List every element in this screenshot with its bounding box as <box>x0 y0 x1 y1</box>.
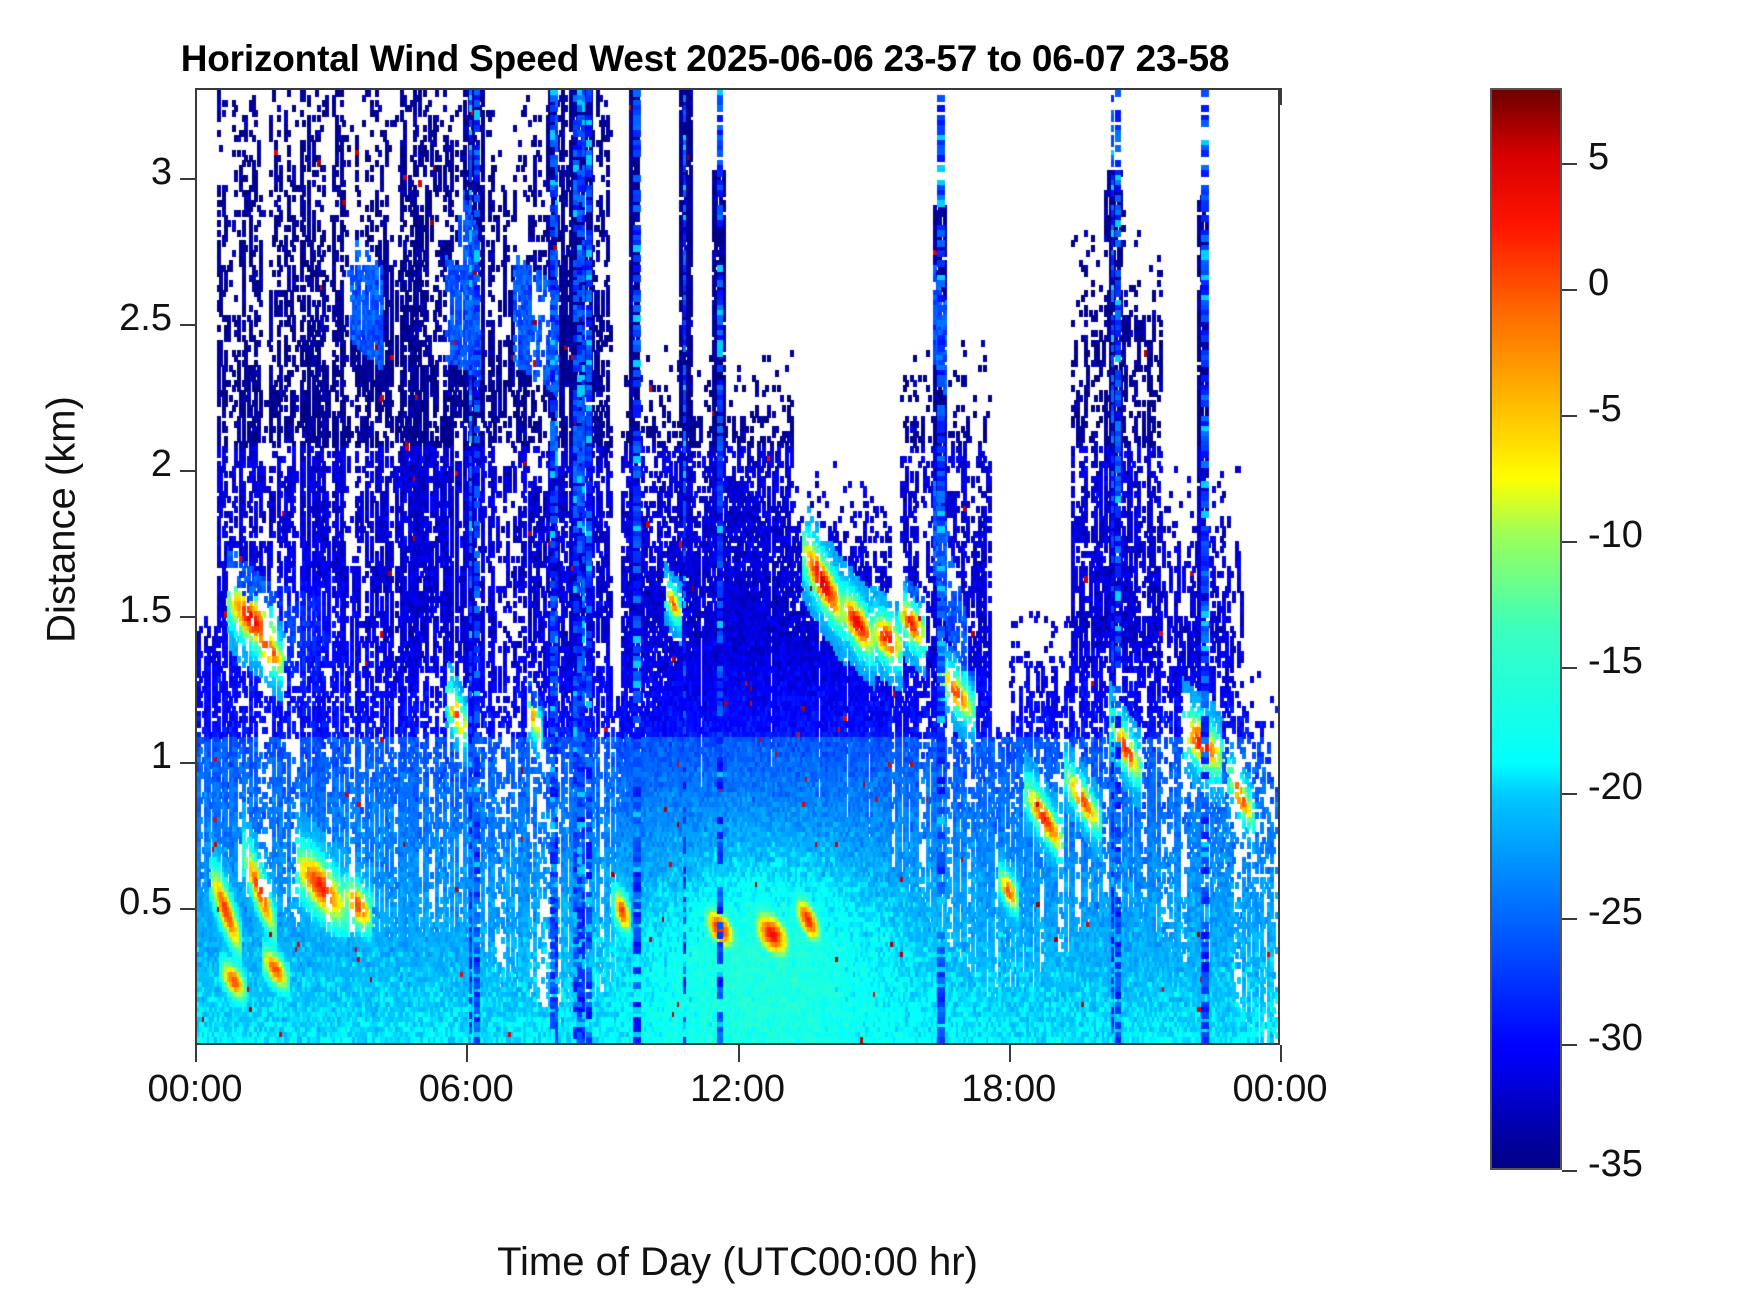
colorbar-tick-label-3: -10 <box>1588 514 1643 557</box>
colorbar-tick-label-5: -20 <box>1588 766 1643 809</box>
colorbar-tick-8 <box>1562 1170 1577 1172</box>
x-tick-1 <box>466 1045 468 1062</box>
colorbar-tick-6 <box>1562 918 1577 920</box>
y-tick-label-1.5: 1.5 <box>119 589 172 632</box>
colorbar[interactable] <box>1490 88 1562 1170</box>
y-tick-label-0.5: 0.5 <box>119 881 172 924</box>
y-tick-label-2.5: 2.5 <box>119 297 172 340</box>
colorbar-tick-label-7: -30 <box>1588 1017 1643 1060</box>
heatmap-image <box>197 90 1278 1043</box>
x-tick-label-2: 12:00 <box>690 1068 785 1111</box>
colorbar-tick-label-8: -35 <box>1588 1143 1643 1186</box>
y-tick-label-1: 1 <box>151 735 172 778</box>
colorbar-gradient <box>1492 90 1560 1168</box>
x-tick-0 <box>195 1045 197 1062</box>
colorbar-tick-2 <box>1562 415 1577 417</box>
colorbar-tick-label-2: -5 <box>1588 388 1622 431</box>
plot-area[interactable] <box>195 88 1280 1045</box>
colorbar-tick-label-6: -25 <box>1588 891 1643 934</box>
x-tick-2 <box>738 1045 740 1062</box>
x-tick-label-0: 00:00 <box>147 1068 242 1111</box>
x-tick-4 <box>1280 1045 1282 1062</box>
x-tick-label-1: 06:00 <box>419 1068 514 1111</box>
page-title: Horizontal Wind Speed West 2025-06-06 23… <box>0 38 1410 80</box>
y-tick-label-2: 2 <box>151 443 172 486</box>
colorbar-tick-label-4: -15 <box>1588 640 1643 683</box>
x-tick-3 <box>1009 1045 1011 1062</box>
colorbar-tick-5 <box>1562 793 1577 795</box>
colorbar-tick-0 <box>1562 163 1577 165</box>
colorbar-tick-label-0: 5 <box>1588 136 1609 179</box>
x-tick-label-4: 00:00 <box>1232 1068 1327 1111</box>
y-tick-label-3: 3 <box>151 151 172 194</box>
x-tick-label-3: 18:00 <box>961 1068 1056 1111</box>
colorbar-tick-3 <box>1562 541 1577 543</box>
figure-canvas: Horizontal Wind Speed West 2025-06-06 23… <box>0 0 1750 1313</box>
colorbar-tick-4 <box>1562 667 1577 669</box>
colorbar-tick-1 <box>1562 289 1577 291</box>
colorbar-tick-7 <box>1562 1044 1577 1046</box>
x-axis-title: Time of Day (UTC00:00 hr) <box>195 1240 1280 1285</box>
x-tick-top-4 <box>1280 88 1282 105</box>
colorbar-tick-label-1: 0 <box>1588 262 1609 305</box>
y-axis-title: Distance (km) <box>40 200 85 840</box>
